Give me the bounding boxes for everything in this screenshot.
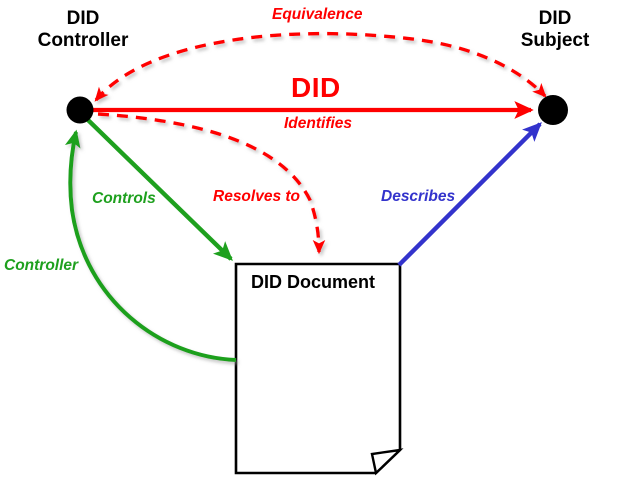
edge-label-equivalence: Equivalence: [272, 6, 362, 24]
node-did-subject-dot[interactable]: [538, 95, 568, 125]
edge-controller-line: [70, 132, 236, 360]
node-did-controller-dot[interactable]: [67, 97, 94, 124]
edge-label-describes: Describes: [381, 188, 455, 206]
node-label-did-subject-line2: Subject: [500, 30, 610, 52]
node-label-did-subject: DID Subject: [500, 8, 610, 52]
edge-label-identifies: Identifies: [284, 115, 352, 133]
node-label-did-controller-line1: DID: [28, 8, 138, 30]
did-document-shape: [236, 264, 400, 473]
node-label-did-controller-line2: Controller: [28, 30, 138, 52]
edge-label-resolves-to: Resolves to: [213, 188, 300, 206]
node-label-did-subject-line1: DID: [500, 8, 610, 30]
edge-label-did: DID: [291, 72, 341, 104]
diagram-canvas: DID Controller DID Subject DID Document …: [0, 0, 620, 485]
edge-label-controller: Controller: [4, 257, 78, 275]
node-label-did-controller: DID Controller: [28, 8, 138, 52]
node-label-did-document: DID Document: [251, 272, 375, 293]
edge-label-controls: Controls: [92, 190, 156, 208]
edge-resolves-to-line: [98, 114, 319, 252]
